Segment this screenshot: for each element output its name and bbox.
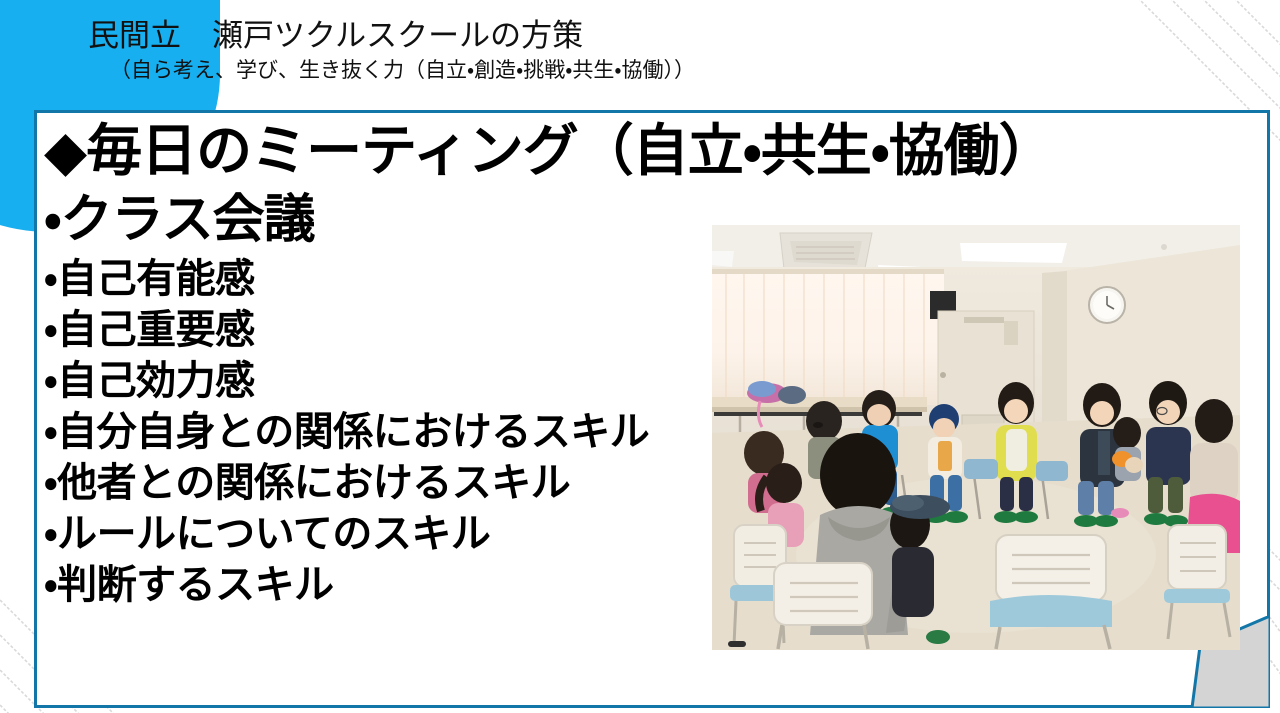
classroom-circle-meeting-photo <box>712 225 1240 650</box>
bullet-item-6: ・判断するスキル <box>44 560 744 611</box>
bullet-item-5: ・ルールについてのスキル <box>44 509 744 560</box>
bullet-item-4: ・他者との関係におけるスキル <box>44 458 744 509</box>
content-body: ◆毎日のミーティング（自立・共生・協働） ・クラス会議 ・自己有能感 ・自己重要… <box>44 116 744 611</box>
bullet-item-0: ・自己有能感 <box>44 254 744 305</box>
content-subheading: ・クラス会議 <box>44 186 744 254</box>
slide-canvas: 民間立 瀬戸ツクルスクールの方策 （自ら考え、学び、生き抜く力（自立・創造・挑戦… <box>0 0 1280 713</box>
header-title: 民間立 瀬戸ツクルスクールの方策 <box>88 17 583 55</box>
bullet-item-1: ・自己重要感 <box>44 305 744 356</box>
header-subtitle: （自ら考え、学び、生き抜く力（自立・創造・挑戦・共生・協働）） <box>110 57 695 84</box>
content-heading: ◆毎日のミーティング（自立・共生・協働） <box>44 116 744 186</box>
bullet-item-3: ・自分自身との関係におけるスキル <box>44 407 744 458</box>
bullet-item-2: ・自己効力感 <box>44 356 744 407</box>
slide-header: 民間立 瀬戸ツクルスクールの方策 （自ら考え、学び、生き抜く力（自立・創造・挑戦… <box>0 0 1280 108</box>
